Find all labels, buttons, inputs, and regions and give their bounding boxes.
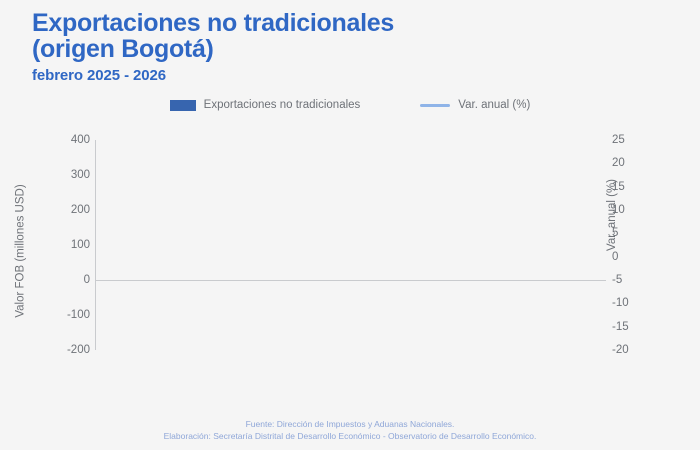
y-axis-left-tick: 0 xyxy=(84,274,90,286)
legend-line-label: Var. anual (%) xyxy=(458,99,530,111)
y-axis-right-tick: -15 xyxy=(612,321,629,333)
y-axis-left-tick: 400 xyxy=(71,134,90,146)
y-axis-right-title: Var. anual (%) xyxy=(606,179,618,251)
y-axis-left-tick: 100 xyxy=(71,239,90,251)
y-axis-right-tick: -5 xyxy=(612,274,622,286)
plot-area xyxy=(96,140,606,350)
footer: Fuente: Dirección de Impuestos y Aduanas… xyxy=(0,418,700,442)
line-series xyxy=(96,140,606,350)
y-axis-left-ticks: 4003002001000-100-200 xyxy=(56,140,90,350)
footer-elaboration: Elaboración: Secretaría Distrital de Des… xyxy=(0,430,700,442)
chart-legend: Exportaciones no tradicionales Var. anua… xyxy=(0,99,700,111)
x-axis xyxy=(96,355,606,410)
title-block: Exportaciones no tradicionales (origen B… xyxy=(32,10,394,84)
page-subtitle: febrero 2025 - 2026 xyxy=(32,67,394,84)
y-axis-left-title: Valor FOB (millones USD) xyxy=(15,184,27,317)
page-title: Exportaciones no tradicionales (origen B… xyxy=(32,10,394,62)
legend-item-line[interactable]: Var. anual (%) xyxy=(420,99,530,111)
y-axis-left-tick: 300 xyxy=(71,169,90,181)
y-axis-right-tick: 0 xyxy=(612,251,618,263)
y-axis-right-tick: -20 xyxy=(612,344,629,356)
legend-item-bars[interactable]: Exportaciones no tradicionales xyxy=(170,99,361,111)
y-axis-left-tick: -200 xyxy=(67,344,90,356)
legend-bar-label: Exportaciones no tradicionales xyxy=(204,99,361,111)
chart-page: Exportaciones no tradicionales (origen B… xyxy=(0,0,700,450)
y-axis-left-tick: 200 xyxy=(71,204,90,216)
y-axis-right-tick: 20 xyxy=(612,157,625,169)
y-axis-right-tick: -10 xyxy=(612,297,629,309)
legend-line-swatch-icon xyxy=(420,104,450,107)
legend-bar-swatch-icon xyxy=(170,100,196,111)
footer-source: Fuente: Dirección de Impuestos y Aduanas… xyxy=(0,418,700,430)
y-axis-right-tick: 25 xyxy=(612,134,625,146)
y-axis-left-tick: -100 xyxy=(67,309,90,321)
